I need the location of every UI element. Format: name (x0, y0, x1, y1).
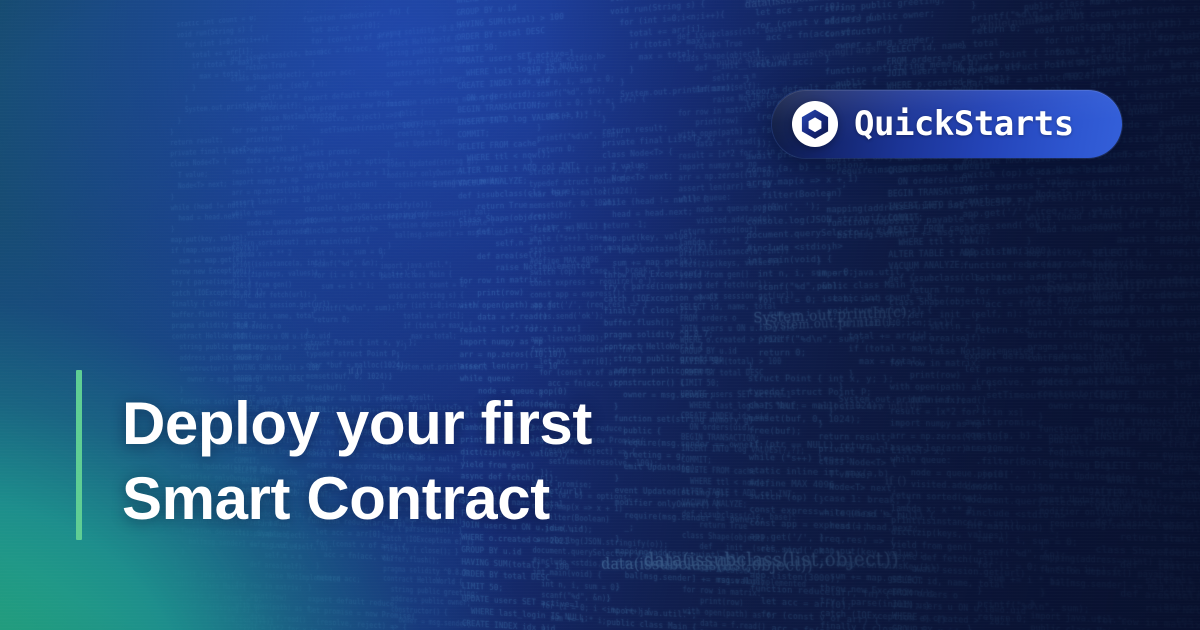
chainlink-hexagon-logo-icon (792, 101, 838, 147)
badge-label: QuickStarts (854, 104, 1074, 144)
accent-bar (76, 370, 82, 540)
headline-line-1: Deploy your first (122, 386, 742, 461)
page-title: Deploy your first Smart Contract (122, 386, 742, 536)
headline-line-2: Smart Contract (122, 461, 742, 536)
quickstarts-banner: import java.util.*; public class Main { … (0, 0, 1200, 630)
quickstarts-badge[interactable]: QuickStarts (772, 90, 1122, 158)
